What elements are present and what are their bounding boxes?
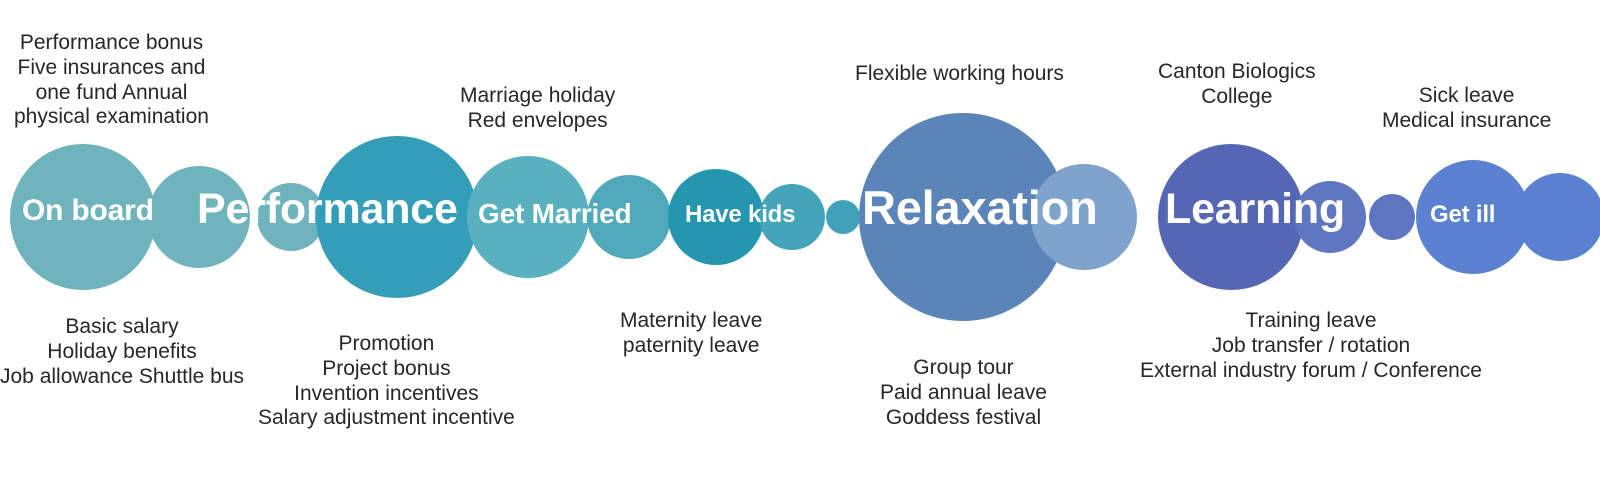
stage-label-learning[interactable]: Learning <box>1165 188 1345 231</box>
bubble-have-kids-trail-2 <box>826 200 860 234</box>
stage-label-get-married[interactable]: Get Married <box>478 200 631 228</box>
caption-below-relaxation: Group tour Paid annual leave Goddess fes… <box>880 356 1047 430</box>
bubble-layer <box>0 0 1600 480</box>
caption-above-get-ill: Sick leave Medical insurance <box>1382 84 1551 134</box>
stage-label-performance[interactable]: Performance <box>197 188 458 231</box>
bubble-learning-trail-2 <box>1369 194 1415 240</box>
bubble-get-ill-trail <box>1516 173 1600 261</box>
caption-below-performance: Promotion Project bonus Invention incent… <box>258 332 515 431</box>
stage-label-get-ill[interactable]: Get ill <box>1430 203 1495 227</box>
caption-above-learning: Canton Biologics College <box>1158 60 1316 110</box>
caption-above-on-board: Performance bonus Five insurances and on… <box>14 31 209 130</box>
caption-above-get-married: Marriage holiday Red envelopes <box>460 84 615 134</box>
stage-label-have-kids[interactable]: Have kids <box>685 203 795 227</box>
caption-below-have-kids: Maternity leave paternity leave <box>620 309 762 359</box>
stage-label-relaxation[interactable]: Relaxation <box>862 184 1098 231</box>
caption-below-on-board: Basic salary Holiday benefits Job allowa… <box>0 315 244 389</box>
stage-label-on-board[interactable]: On board <box>22 196 154 226</box>
caption-above-relaxation: Flexible working hours <box>855 62 1064 87</box>
bubble-diagram-canvas: On boardPerformanceGet MarriedHave kidsR… <box>0 0 1600 480</box>
caption-below-learning: Training leave Job transfer / rotation E… <box>1140 309 1482 383</box>
